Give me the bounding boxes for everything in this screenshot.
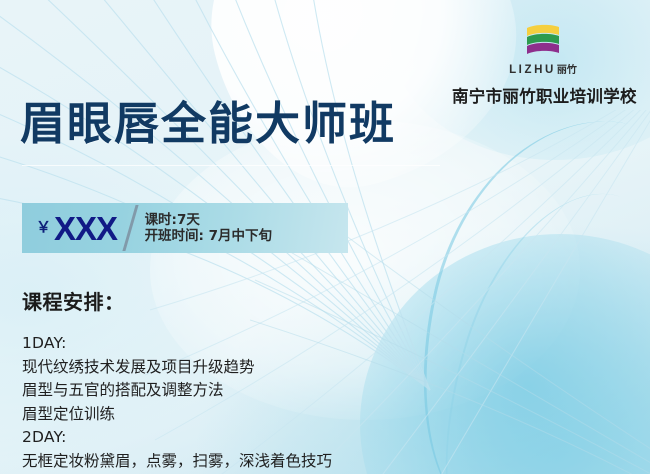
brand-latin-name: LIZHU丽竹 — [452, 65, 634, 77]
poster-title: 眉眼唇全能大师班 — [20, 100, 396, 149]
course-poster: LIZHU丽竹 南宁市丽竹职业培训学校 眉眼唇全能大师班 ￥ XXX 课时:7天… — [0, 0, 650, 474]
lizhu-logo-icon — [520, 24, 566, 60]
brand-latin-cn-suffix: 丽竹 — [557, 65, 577, 76]
schedule-item: 现代纹绣技术发展及项目升级趋势 — [22, 356, 622, 380]
schedule-item: 无框定妆粉黛眉，点雾，扫雾，深浅着色技巧 — [22, 450, 622, 474]
price-amount: XXX — [54, 212, 117, 245]
brand-logo-block: LIZHU丽竹 南宁市丽竹职业培训学校 — [452, 24, 634, 107]
schedule-heading: 课程安排： — [22, 286, 125, 315]
schedule-day-label: 2DAY: — [22, 426, 622, 450]
brand-school-name: 南宁市丽竹职业培训学校 — [452, 83, 634, 107]
schedule-item: 眉型定位训练 — [22, 403, 622, 427]
schedule-item: 眉型与五官的搭配及调整方法 — [22, 379, 622, 403]
course-duration-label: 课时:7天 — [145, 212, 273, 228]
price-banner: ￥ XXX 课时:7天 开班时间: 7月中下旬 — [22, 203, 348, 253]
course-start-label: 开班时间: 7月中下旬 — [145, 228, 273, 244]
title-divider-rule — [22, 161, 440, 165]
schedule-list: 1DAY:现代纹绣技术发展及项目升级趋势眉型与五官的搭配及调整方法眉型定位训练2… — [22, 332, 622, 474]
currency-symbol: ￥ — [36, 220, 51, 235]
brand-latin-text: LIZHU — [509, 64, 556, 76]
price-details: 课时:7天 开班时间: 7月中下旬 — [145, 212, 273, 245]
price-separator-slash — [122, 205, 138, 251]
schedule-day-label: 1DAY: — [22, 332, 622, 356]
